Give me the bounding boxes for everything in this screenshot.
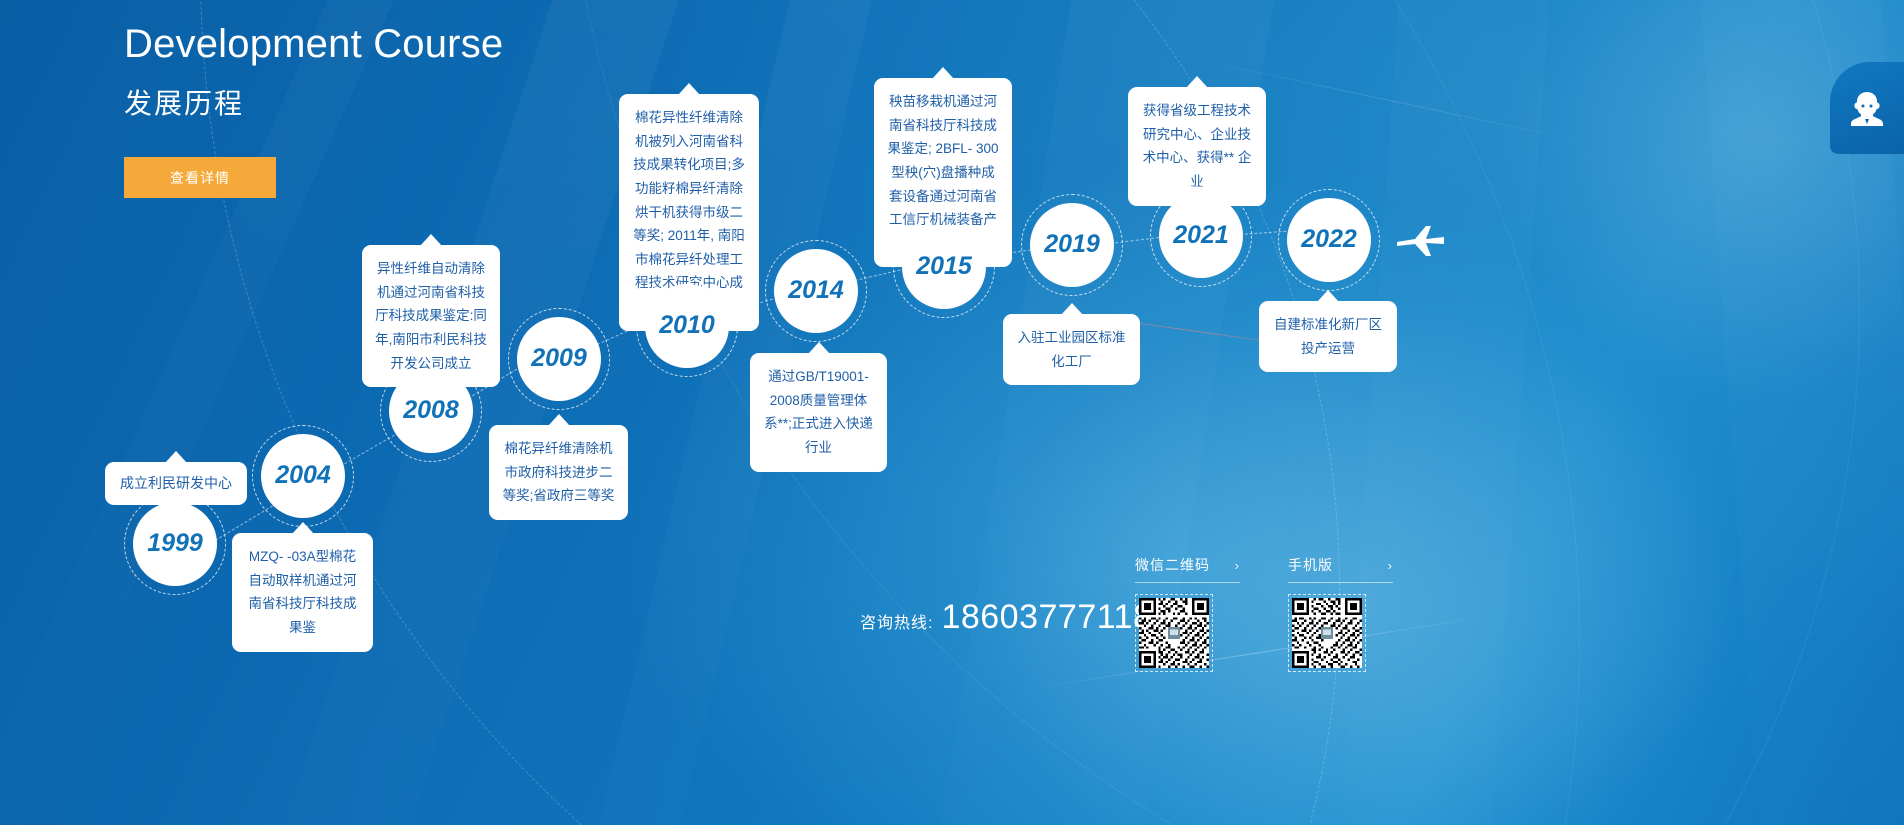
timeline-card-2004[interactable]: MZQ- -03A型棉花自动取样机通过河南省科技厅科技成果鉴 xyxy=(232,533,373,652)
timeline-node-year: 2004 xyxy=(275,461,331,490)
qr-wechat-label: 微信二维码 xyxy=(1135,555,1210,575)
card-tail-icon xyxy=(678,83,700,95)
customer-service-button[interactable] xyxy=(1830,62,1904,154)
timeline-card-text: 自建标准化新厂区投产运营 xyxy=(1272,313,1384,360)
timeline-node-year: 2009 xyxy=(531,344,587,373)
timeline-card-text: 入驻工业园区标准化工厂 xyxy=(1016,326,1127,373)
hotline-block: 咨询热线: 18603777118 xyxy=(860,598,1152,637)
card-tail-icon xyxy=(165,451,187,463)
timeline-node-year: 1999 xyxy=(147,529,203,558)
timeline-node-year: 2010 xyxy=(659,311,715,340)
qr-block-mobile: 手机版 › xyxy=(1288,555,1393,672)
qr-code-image xyxy=(1292,598,1362,668)
view-details-button[interactable]: 查看详情 xyxy=(124,157,276,198)
timeline-node-1999[interactable]: 1999 xyxy=(133,502,217,586)
timeline-node-year: 2022 xyxy=(1301,225,1357,254)
card-tail-icon xyxy=(1317,290,1339,302)
timeline-node-year: 2021 xyxy=(1173,221,1229,250)
headset-operator-icon xyxy=(1849,88,1885,128)
qr-wechat-link[interactable]: 微信二维码 › xyxy=(1135,555,1240,583)
timeline-card-2019[interactable]: 入驻工业园区标准化工厂 xyxy=(1003,314,1140,385)
timeline-node-2022[interactable]: 2022 xyxy=(1287,198,1371,282)
timeline-node-2008[interactable]: 2008 xyxy=(389,369,473,453)
hotline-number: 18603777118 xyxy=(941,598,1152,637)
card-tail-icon xyxy=(292,522,314,534)
qr-block-wechat: 微信二维码 › xyxy=(1135,555,1240,672)
timeline-node-2015[interactable]: 2015 xyxy=(902,225,986,309)
timeline-card-2009[interactable]: 棉花异纤维清除机市政府科技进步二等奖;省政府三等奖 xyxy=(489,425,628,520)
timeline-card-text: 获得省级工程技术研究中心、企业技术中心、获得** 企业 xyxy=(1141,99,1253,194)
page-background: Development Course 发展历程 查看详情 成立利民研发中心 19… xyxy=(0,0,1904,825)
background-glow xyxy=(1500,0,1904,400)
timeline-card-text: 异性纤维自动清除机通过河南省科技厅科技成果鉴定:同年,南阳市利民科技开发公司成立 xyxy=(375,257,487,375)
timeline-node-2004[interactable]: 2004 xyxy=(261,434,345,518)
page-title-cn: 发展历程 xyxy=(124,82,503,122)
timeline-node-year: 2014 xyxy=(788,276,844,305)
chevron-right-icon: › xyxy=(1388,558,1393,573)
timeline-node-2010[interactable]: 2010 xyxy=(645,284,729,368)
qr-mobile-label: 手机版 xyxy=(1288,555,1333,575)
timeline-node-2014[interactable]: 2014 xyxy=(774,249,858,333)
card-tail-icon xyxy=(1186,76,1208,88)
qr-mobile-frame[interactable] xyxy=(1288,594,1366,672)
timeline-node-year: 2019 xyxy=(1044,230,1100,259)
timeline-node-year: 2008 xyxy=(403,396,459,425)
timeline-card-text: 棉花异纤维清除机市政府科技进步二等奖;省政府三等奖 xyxy=(502,437,615,508)
timeline-node-2021[interactable]: 2021 xyxy=(1159,194,1243,278)
timeline-card-text: 通过GB/T19001-2008质量管理体系**;正式进入快递行业 xyxy=(763,365,874,460)
background-ray xyxy=(1316,0,1570,825)
card-tail-icon xyxy=(1061,303,1083,315)
timeline-node-2019[interactable]: 2019 xyxy=(1030,203,1114,287)
qr-wechat-frame[interactable] xyxy=(1135,594,1213,672)
timeline-card-text: 成立利民研发中心 xyxy=(115,471,237,496)
card-tail-icon xyxy=(548,414,570,426)
timeline-node-year: 2015 xyxy=(916,252,972,281)
timeline-card-2022[interactable]: 自建标准化新厂区投产运营 xyxy=(1259,301,1397,372)
timeline-card-text: MZQ- -03A型棉花自动取样机通过河南省科技厅科技成果鉴 xyxy=(245,545,360,640)
timeline-card-2014[interactable]: 通过GB/T19001-2008质量管理体系**;正式进入快递行业 xyxy=(750,353,887,472)
timeline-node-2009[interactable]: 2009 xyxy=(517,317,601,401)
card-tail-icon xyxy=(420,234,442,246)
card-tail-icon xyxy=(932,67,954,79)
card-tail-icon xyxy=(808,342,830,354)
page-heading: Development Course 发展历程 xyxy=(124,20,503,122)
page-title-en: Development Course xyxy=(124,20,503,68)
qr-mobile-link[interactable]: 手机版 › xyxy=(1288,555,1393,583)
qr-code-image xyxy=(1139,598,1209,668)
hotline-label: 咨询热线: xyxy=(860,609,933,633)
chevron-right-icon: › xyxy=(1235,558,1240,573)
airplane-icon xyxy=(1395,222,1447,265)
